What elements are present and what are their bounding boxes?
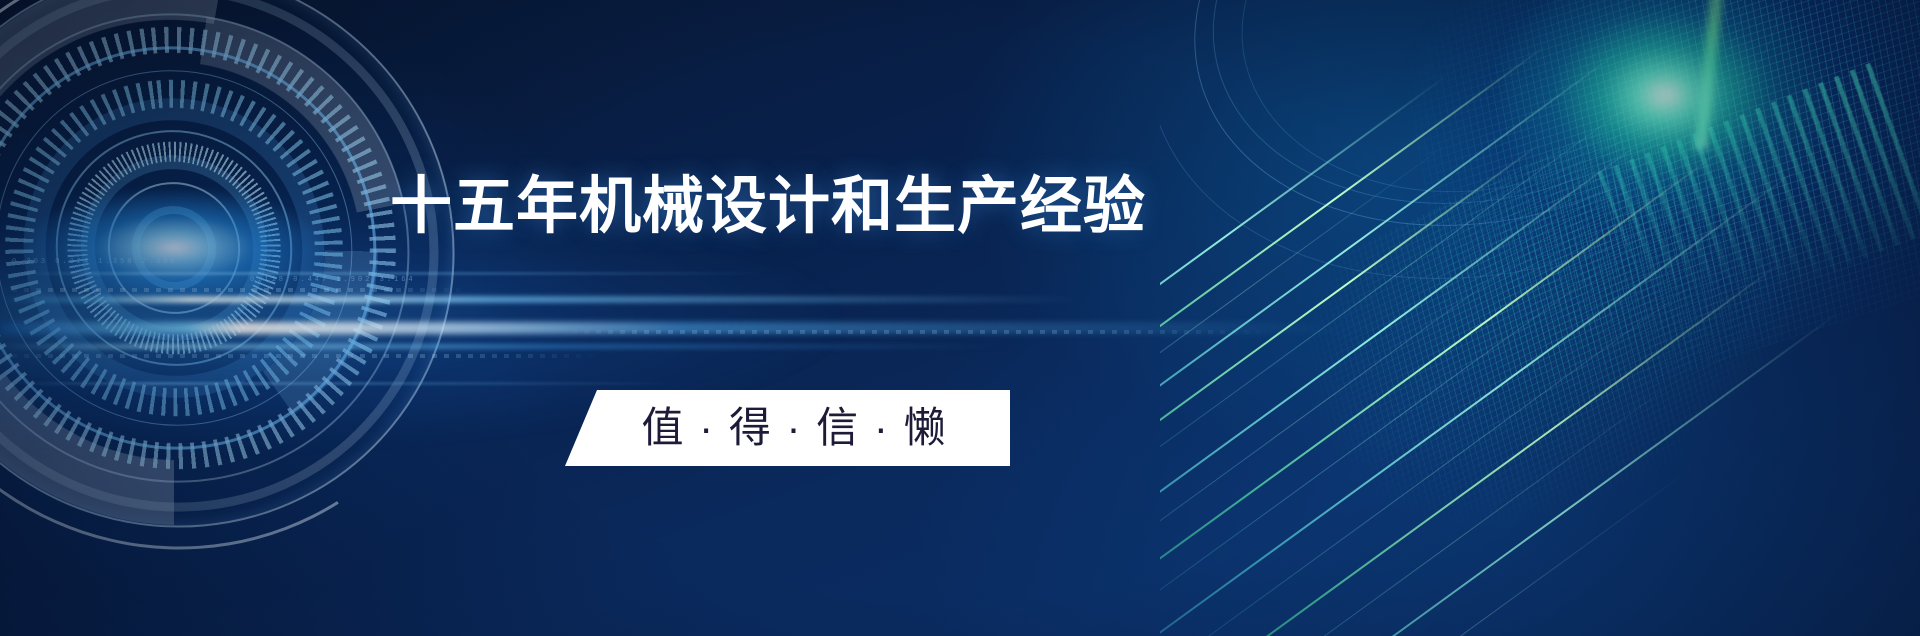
data-ticker-line xyxy=(0,288,470,292)
banner-root: 0.203 0.324 1.358 2.386 0.118 0.447 1.90… xyxy=(0,0,1920,636)
tagline-plaque: 值 · 得 · 信 · 懒 xyxy=(565,390,1010,466)
page-title: 十五年机械设计和生产经验 xyxy=(390,170,1190,244)
tagline-text: 值 · 得 · 信 · 懒 xyxy=(628,407,948,449)
ticker-readout-b: 0.118 0.447 1.902 3.164 xyxy=(250,276,416,284)
data-ticker-line xyxy=(0,354,600,358)
ticker-readout-a: 0.203 0.324 1.358 2.386 xyxy=(12,258,178,266)
circuit-board-panel-icon xyxy=(1160,0,1920,636)
hud-targeting-ring-icon xyxy=(0,0,474,548)
light-burst-icon xyxy=(1500,0,1830,220)
